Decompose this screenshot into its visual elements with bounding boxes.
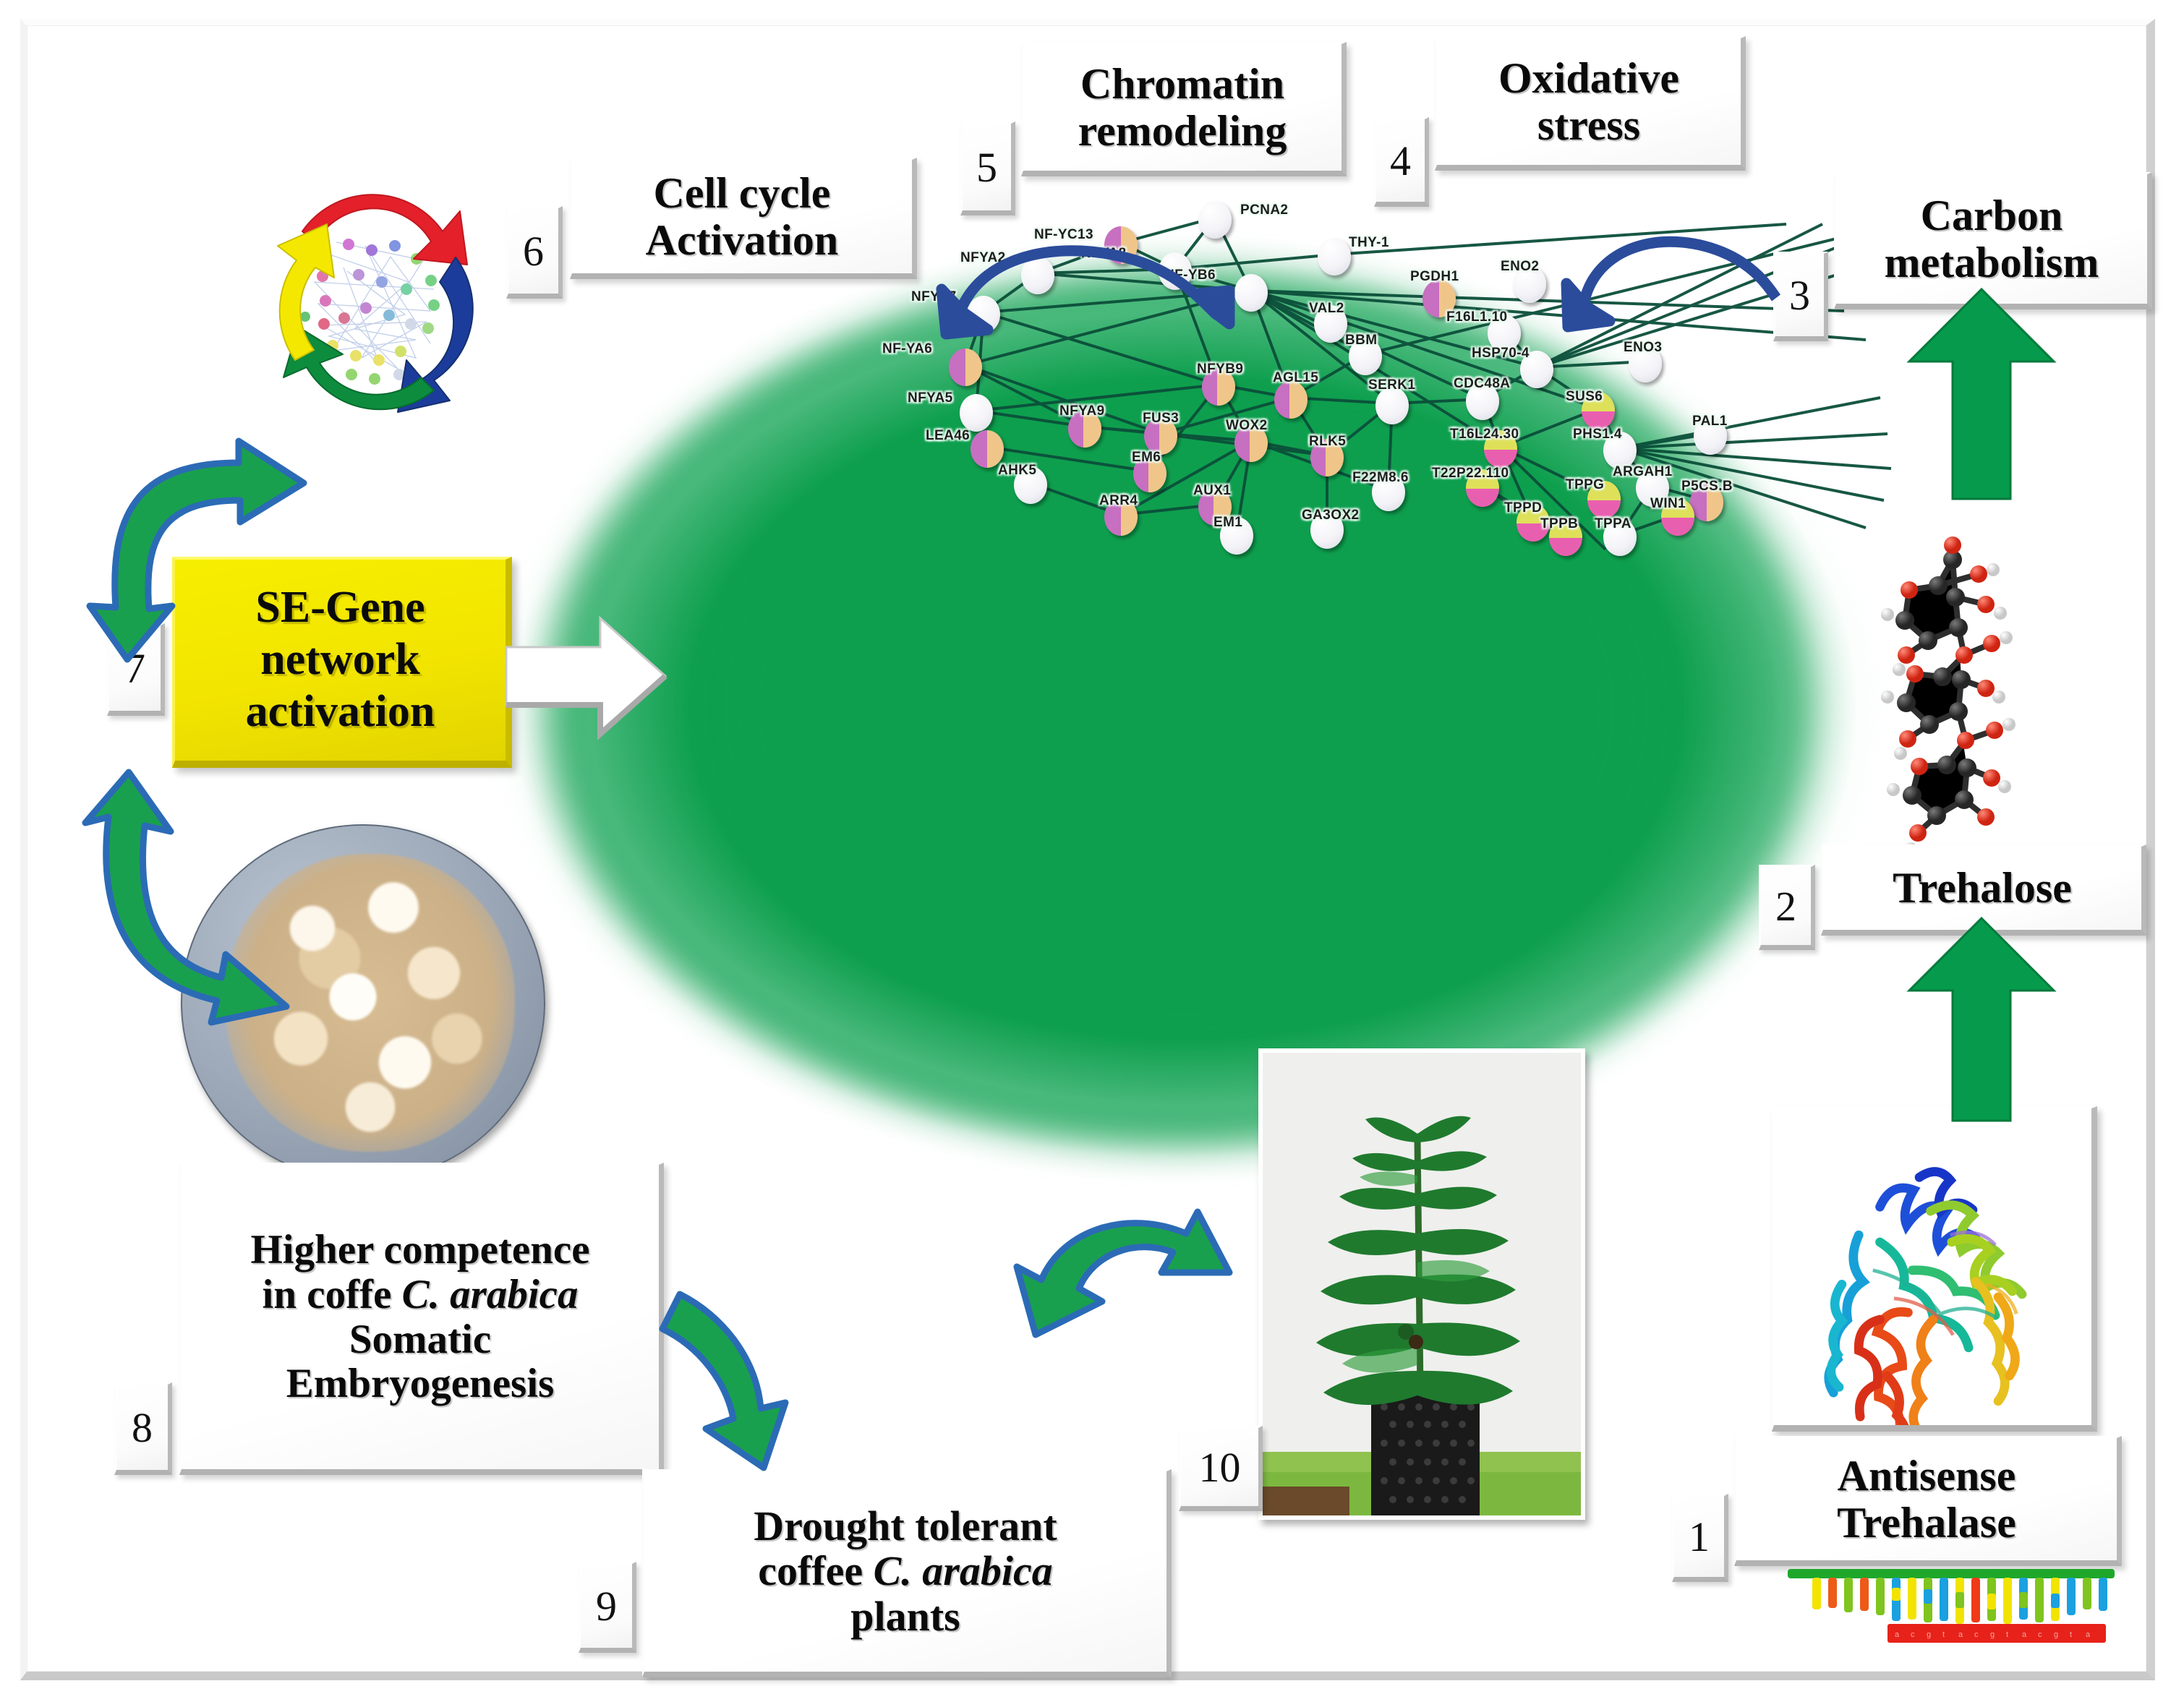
network-node-thy-1 bbox=[1318, 238, 1351, 275]
network-node-label-serk1: SERK1 bbox=[1368, 377, 1415, 393]
network-node-label-thy-1: THY-1 bbox=[1349, 235, 1389, 251]
box-cell-cycle-activation: Cell cycle Activation bbox=[570, 158, 917, 279]
network-node-label-eno3: ENO3 bbox=[1624, 340, 1662, 356]
svg-text:a: a bbox=[2022, 1630, 2027, 1639]
box-antisense-label: Antisense Trehalase bbox=[1837, 1453, 2016, 1547]
cycle-network-diagram bbox=[217, 174, 528, 463]
network-node-label-sus6: SUS6 bbox=[1566, 389, 1603, 405]
network-node-label-pal1: PAL1 bbox=[1692, 414, 1728, 429]
svg-text:t: t bbox=[1942, 1630, 1945, 1639]
network-node-label-nfya9: NFYA9 bbox=[1059, 403, 1105, 419]
network-edges bbox=[448, 217, 1924, 1200]
network-node-label-p5cs-b: P5CS.B bbox=[1681, 479, 1733, 495]
number-chip-7: 7 bbox=[107, 623, 165, 716]
network-node-agl15 bbox=[1274, 381, 1308, 419]
network-node-nfya7 bbox=[967, 296, 1000, 333]
network-node-label-nf-yb6: NF-YB6 bbox=[1164, 268, 1216, 283]
network-node-nf-yb6 bbox=[1234, 274, 1268, 312]
svg-text:a: a bbox=[2086, 1630, 2091, 1639]
network-node-label-argah1: ARGAH1 bbox=[1613, 464, 1673, 480]
box-drought-label: Drought tolerant coffee C. arabica plant… bbox=[754, 1504, 1057, 1640]
network-node-label-nfya8: NFYA8 bbox=[1081, 246, 1127, 262]
network-node-label-tppd: TPPD bbox=[1504, 500, 1542, 516]
box-oxidative-label: Oxidative stress bbox=[1498, 55, 1679, 149]
box-carbon-label: Carbon metabolism bbox=[1885, 192, 2099, 286]
network-node-label-f16l1-10: F16L1.10 bbox=[1446, 309, 1508, 325]
svg-text:t: t bbox=[2070, 1630, 2072, 1639]
svg-text:g: g bbox=[2054, 1630, 2058, 1639]
network-node-label-eno2: ENO2 bbox=[1501, 259, 1539, 275]
svg-text:g: g bbox=[1990, 1630, 1995, 1639]
number-chip-2: 2 bbox=[1759, 865, 1815, 950]
network-node-label-phs1-4: PHS1.4 bbox=[1573, 427, 1622, 442]
network-node-label-aux1: AUX1 bbox=[1193, 483, 1231, 499]
network-node-label-wox2: WOX2 bbox=[1226, 418, 1268, 434]
network-node-label-cdc48a: CDC48A bbox=[1454, 376, 1510, 392]
network-node-nf-ya6 bbox=[949, 348, 982, 386]
trehalose-molecule-image bbox=[1837, 535, 2076, 882]
network-node-label-t22p22-110: T22P22.110 bbox=[1432, 466, 1509, 482]
network-node-label-em1: EM1 bbox=[1213, 515, 1242, 531]
number-chip-1: 1 bbox=[1672, 1494, 1728, 1582]
network-node-label-lea46: LEA46 bbox=[926, 428, 970, 444]
box-se-gene-label: SE-Gene network activation bbox=[246, 582, 435, 738]
box-carbon-metabolism: Carbon metabolism bbox=[1834, 172, 2152, 309]
network-node-label-tppb: TPPB bbox=[1540, 516, 1578, 532]
box-oxidative-stress: Oxidative stress bbox=[1435, 36, 1746, 171]
network-node-label-nfyb9: NFYB9 bbox=[1197, 362, 1243, 377]
svg-text:c: c bbox=[1911, 1630, 1915, 1639]
callus-petri-dish-image bbox=[181, 824, 545, 1181]
box-competence-label: Higher competence in coffe C. arabica So… bbox=[250, 1228, 589, 1406]
number-chip-5: 5 bbox=[960, 121, 1015, 215]
figure-canvas: PCNA2NF-YC13NFYA2NFYA8THY-1NF-YB6ENO2PGD… bbox=[0, 0, 2184, 1702]
number-chip-3: 3 bbox=[1773, 252, 1828, 341]
number-chip-10: 10 bbox=[1179, 1426, 1263, 1511]
svg-text:a: a bbox=[1895, 1630, 1900, 1639]
network-node-label-bbm: BBM bbox=[1345, 333, 1377, 348]
number-chip-4: 4 bbox=[1374, 117, 1429, 207]
svg-text:c: c bbox=[2038, 1630, 2042, 1639]
network-node-label-nfya5: NFYA5 bbox=[908, 390, 953, 406]
network-node-label-tppg: TPPG bbox=[1566, 477, 1604, 493]
box-trehalose-label: Trehalose bbox=[1893, 865, 2072, 912]
box-drought-tolerant-plants: Drought tolerant coffee C. arabica plant… bbox=[642, 1469, 1172, 1677]
network-node-nfya5 bbox=[960, 394, 993, 432]
svg-text:a: a bbox=[1958, 1630, 1963, 1639]
embryogenic-callus bbox=[226, 854, 515, 1152]
protein-ribbon-image bbox=[1772, 1106, 2097, 1432]
network-node-label-hsp70-4: HSP70-4 bbox=[1472, 346, 1530, 362]
box-chromatin-label: Chromatin remodeling bbox=[1078, 61, 1287, 155]
svg-text:t: t bbox=[2006, 1630, 2008, 1639]
svg-text:g: g bbox=[1927, 1630, 1931, 1639]
network-node-label-nfya7: NFYA7 bbox=[911, 289, 957, 305]
network-node-label-f22m8-6: F22M8.6 bbox=[1352, 470, 1409, 486]
network-node-label-val2: VAL2 bbox=[1309, 301, 1344, 317]
network-node-label-pcna2: PCNA2 bbox=[1240, 202, 1288, 218]
network-node-label-tppa: TPPA bbox=[1595, 516, 1631, 532]
network-node-label-arr4: ARR4 bbox=[1099, 493, 1138, 509]
network-node-label-pgdh1: PGDH1 bbox=[1410, 269, 1459, 285]
network-node-label-agl15: AGL15 bbox=[1273, 370, 1318, 386]
box-cell-cycle-label: Cell cycle Activation bbox=[646, 170, 839, 264]
network-node-label-win1: WIN1 bbox=[1650, 496, 1686, 512]
network-node-label-fus3: FUS3 bbox=[1143, 411, 1179, 427]
box-antisense-trehalase: Antisense Trehalase bbox=[1734, 1436, 2122, 1566]
number-chip-6: 6 bbox=[506, 206, 563, 299]
box-higher-competence-se: Higher competence in coffe C. arabica So… bbox=[179, 1163, 664, 1475]
number-chip-8: 8 bbox=[114, 1382, 172, 1475]
network-node-label-nfya2: NFYA2 bbox=[960, 250, 1006, 266]
dna-alignment-graphic: acg tac gta cgt a bbox=[1786, 1568, 2126, 1647]
box-se-gene-network-activation: SE-Gene network activation bbox=[172, 557, 512, 768]
network-node-label-t16l24-30: T16L24.30 bbox=[1450, 427, 1519, 442]
network-node-label-ga3ox2: GA3OX2 bbox=[1302, 508, 1360, 523]
network-node-label-rlk5: RLK5 bbox=[1309, 434, 1346, 450]
network-node-nfya2 bbox=[1021, 257, 1054, 294]
network-node-label-ahk5: AHK5 bbox=[998, 463, 1036, 479]
network-node-pcna2 bbox=[1198, 201, 1232, 239]
box-trehalose: Trehalose bbox=[1821, 844, 2146, 936]
box-chromatin-remodeling: Chromatin remodeling bbox=[1021, 42, 1347, 176]
number-chip-9: 9 bbox=[579, 1562, 636, 1653]
coffee-plant-photo bbox=[1258, 1048, 1585, 1520]
network-node-label-nf-yc13: NF-YC13 bbox=[1034, 227, 1093, 243]
network-node-label-em6: EM6 bbox=[1132, 450, 1161, 466]
svg-text:c: c bbox=[1974, 1630, 1979, 1639]
network-node-label-nf-ya6: NF-YA6 bbox=[882, 341, 932, 357]
